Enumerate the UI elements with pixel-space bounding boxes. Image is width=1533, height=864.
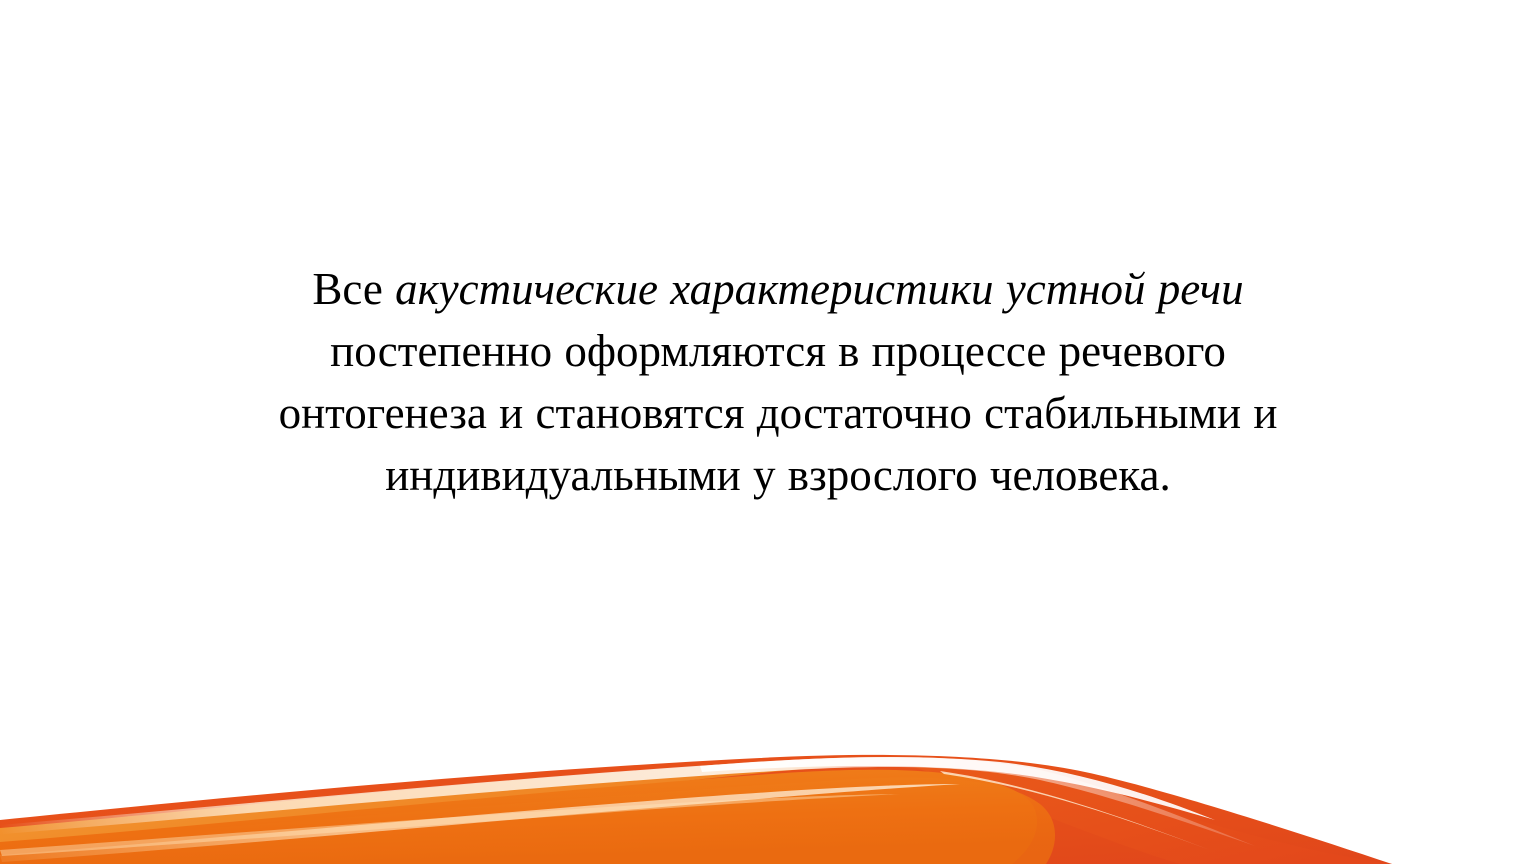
- wave-layer-amber: [0, 760, 912, 855]
- wave-layer-red-orange: [0, 755, 1392, 864]
- wave-sheen-tertiary: [0, 794, 900, 856]
- body-text-segment-1: Все: [312, 264, 395, 314]
- body-text-segment-3: постепенно оформляются в процессе речево…: [279, 326, 1278, 500]
- slide-canvas: Все акустические характеристики устной р…: [0, 0, 1533, 864]
- wave-sheen-secondary: [0, 784, 960, 862]
- wave-sheen-right-tail: [940, 771, 1210, 850]
- body-text-segment-2-italic: акустические характеристики устной речи: [395, 264, 1244, 314]
- wave-layer-main-orange: [0, 770, 1037, 864]
- wave-layer-base-fill: [0, 778, 1055, 864]
- wave-sheen-primary: [0, 757, 1255, 846]
- wave-crest-highlight: [700, 757, 1215, 820]
- wave-layer-right-tail: [905, 764, 1392, 864]
- slide-body-text: Все акустические характеристики устной р…: [243, 258, 1313, 506]
- orange-wave-decoration: [0, 724, 1533, 864]
